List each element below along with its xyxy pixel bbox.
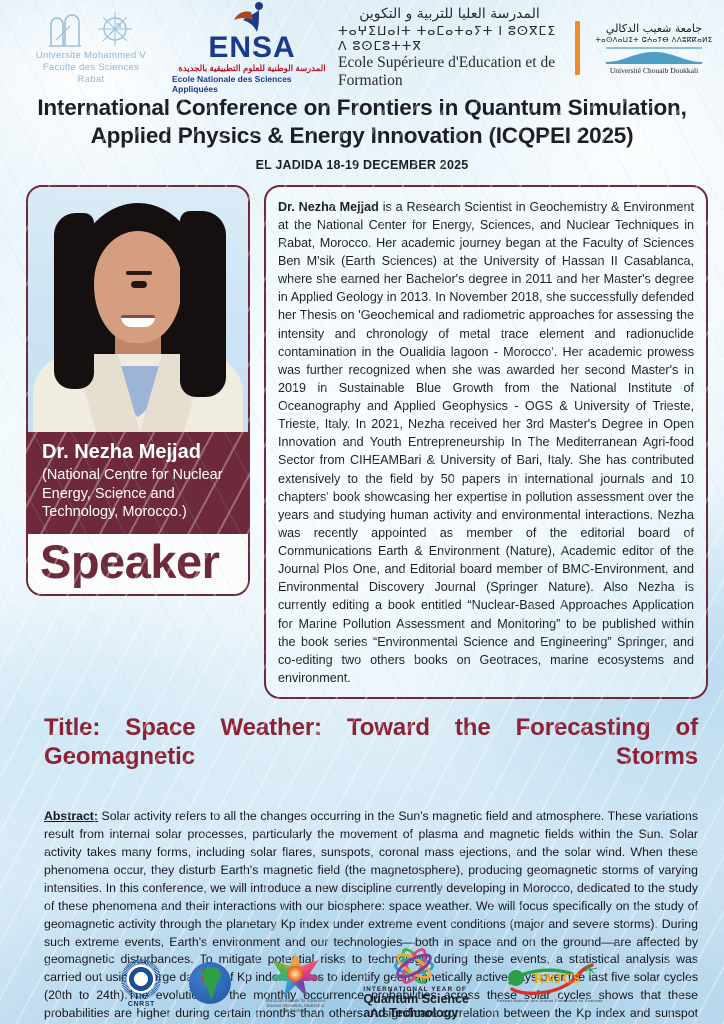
ucd-tifinagh-name: ⵜⴰⵙⴷⴰⵡⵉⵜ ⵛⵄⴰⵢⴱ ⴷⴷⵓⴽⴽⴰⵍⵉ (595, 36, 712, 44)
rnjcs-mark-icon: RNJCS (500, 963, 600, 997)
portrait-eye-right (131, 281, 144, 288)
speaker-bio-text: Dr. Nezha Mejjad is a Research Scientist… (278, 198, 694, 687)
conference-poster: Universite Mohammed V Faculte des Scienc… (0, 0, 724, 1024)
bio-lead-name: Dr. Nezha Mejjad (278, 200, 379, 214)
iyq-text: INTERNATIONAL YEAR OF Quantum Science an… (363, 986, 469, 1019)
portrait-mouth (121, 315, 155, 327)
esef-tifinagh-name: ⵜⴰⵖⵉⵡⴰⵏⵜ ⵜⴰⵎⴰⵜⴰⵢⵜ ⵏ ⵓⵙⴳⵎⵉ ⴷ ⵓⵙⵎⵓⵜⵜⴳ (338, 23, 561, 53)
ensa-arabic-name: المدرسة الوطنية للعلوم التطبيقية بالجديد… (178, 63, 325, 74)
um5-atom-icon (96, 10, 134, 48)
speaker-affiliation: (National Centre for Nuclear Energy, Sci… (42, 466, 234, 523)
rnjcs-acronym: RNJCS (534, 972, 581, 988)
um5-emblems (48, 10, 134, 48)
ucd-wave-icon (606, 45, 702, 65)
speaker-name: Dr. Nezha Mejjad (42, 441, 234, 464)
logo-african-network-globe (189, 962, 231, 1004)
logo-international-year-quantum: INTERNATIONAL YEAR OF Quantum Science an… (359, 946, 469, 1019)
portrait-hair-front-left (54, 213, 94, 389)
logo-ecole-superieure-education-formation: المدرسة العليا للتربية و التكوين ⵜⴰⵖⵉⵡⴰⵏ… (338, 6, 561, 90)
esef-french-name: Ecole Supérieure d'Education et de Forma… (338, 54, 561, 90)
um5-arch-icon (48, 10, 82, 48)
logo-universite-mohammed-v: Universite Mohammed V Faculte des Scienc… (16, 10, 166, 86)
conference-date: EL JADIDA 18-19 DECEMBER 2025 (0, 151, 724, 172)
main-content: Dr. Nezha Mejjad (National Centre for Nu… (0, 172, 724, 699)
quantum-knot-icon (391, 946, 437, 986)
speaker-bio-card: Dr. Nezha Mejjad is a Research Scientist… (264, 185, 708, 699)
poster-footer: CNRST Moroccan Institute for Advanced Sc… (0, 946, 724, 1020)
ucd-french-name: Université Chouaib Doukkali (610, 66, 698, 75)
imtech-caption: Moroccan Institute for Advanced Science … (259, 998, 331, 1013)
speaker-name-band: Dr. Nezha Mejjad (National Centre for Nu… (28, 432, 248, 535)
globe-icon (189, 962, 231, 1004)
talk-title: Title: Space Weather: Toward the Forecas… (0, 699, 724, 801)
globe-marker-1 (202, 969, 207, 974)
um5-label: Universite Mohammed V Faculte des Scienc… (36, 50, 146, 86)
logo-rnjcs: RNJCS Réseau National des Jeunes Cherche… (497, 963, 603, 1003)
ensa-acronym: ENSA (208, 34, 295, 63)
iyq-line-2: Quantum Science (363, 993, 469, 1006)
globe-marker-2 (202, 976, 207, 981)
portrait-brow-right (126, 271, 148, 275)
ucd-arabic-name: جامعة شعيب الدكالي (606, 22, 702, 35)
logo-universite-chouaib-doukkali: جامعة شعيب الدكالي ⵜⴰⵙⴷⴰⵡⵉⵜ ⵛⵄⴰⵢⴱ ⴷⴷⵓⴽⴽⴰ… (594, 22, 714, 75)
rnjcs-caption: Réseau National des Jeunes Chercheurs en… (497, 998, 603, 1003)
cnrst-burst-icon (121, 959, 161, 999)
cnrst-label: CNRST (128, 1001, 155, 1008)
abstract-label: Abstract: (44, 809, 98, 823)
speaker-role-badge: Speaker (28, 534, 248, 594)
logo-imtech-star: Moroccan Institute for Advanced Science … (259, 953, 331, 1013)
poster-header: Universite Mohammed V Faculte des Scienc… (0, 0, 724, 92)
iyq-line-3: and Technology (363, 1007, 469, 1020)
star-core-icon (287, 966, 303, 982)
logo-ensa: ENSA المدرسة الوطنية للعلوم التطبيقية با… (172, 2, 332, 94)
ensa-french-name: Ecole Nationale des Sciences Appliquées (172, 74, 332, 94)
conference-title: International Conference on Frontiers in… (0, 92, 724, 151)
speaker-photo (28, 187, 248, 432)
portrait-hair-front-right (180, 211, 226, 397)
ensa-flame-icon (229, 2, 275, 34)
header-divider (575, 21, 580, 75)
logo-cnrst: CNRST (121, 959, 161, 1008)
esef-arabic-name: المدرسة العليا للتربية و التكوين (359, 6, 540, 22)
bio-body: is a Research Scientist in Geochemistry … (278, 200, 694, 685)
speaker-card: Dr. Nezha Mejjad (National Centre for Nu… (26, 185, 250, 597)
star-icon (269, 953, 321, 997)
